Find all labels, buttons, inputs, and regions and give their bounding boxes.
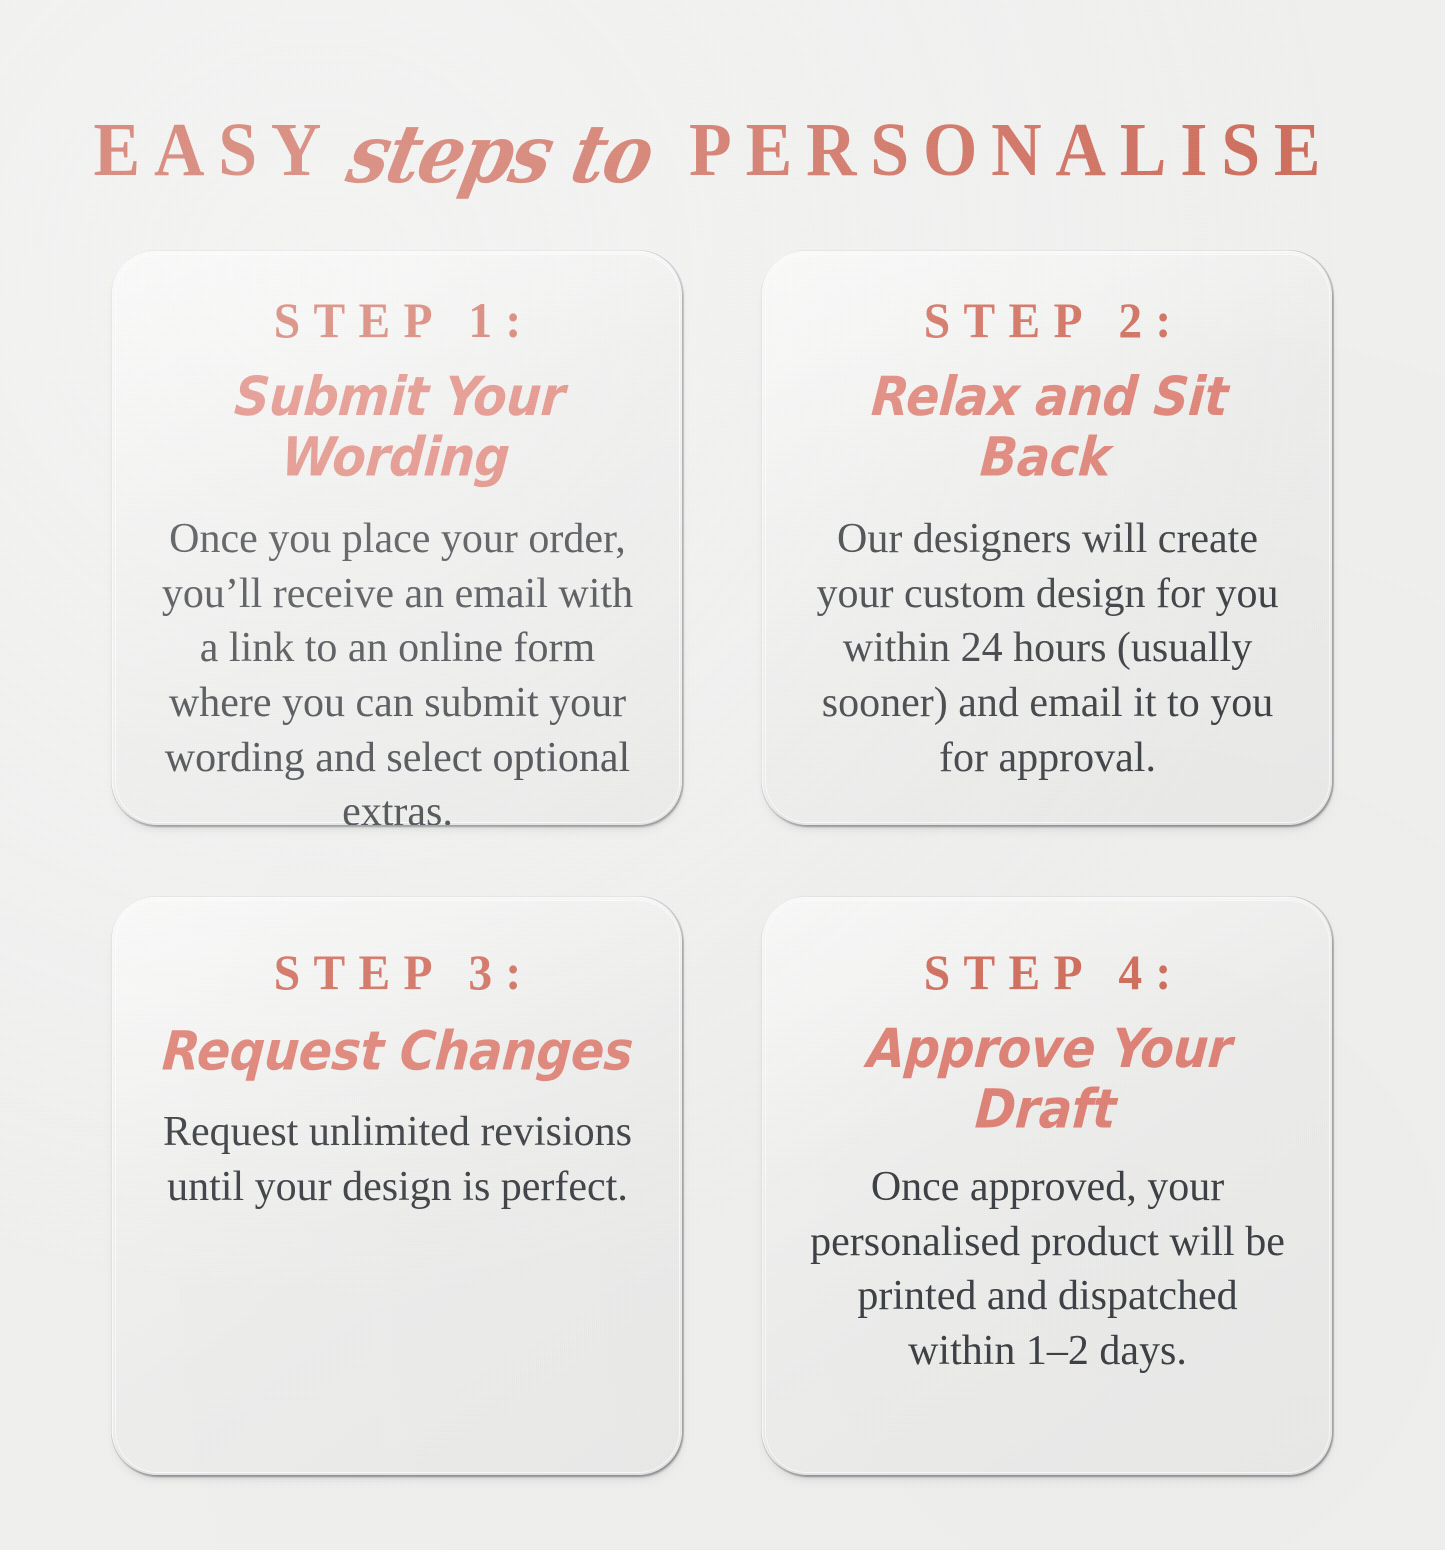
step-4-label: STEP 4:	[810, 946, 1286, 999]
step-3-title: Request Changes	[145, 1022, 650, 1082]
step-2-title: Relax and Sit Back	[793, 367, 1302, 488]
step-1-body: Once you place your order, you’ll receiv…	[147, 512, 648, 825]
step-card-3: STEP 3: Request Changes Request unlimite…	[113, 898, 682, 1475]
page-title: EASYsteps toPERSONALISE	[0, 112, 1445, 188]
step-2-body: Our designers will create your custom de…	[797, 512, 1298, 785]
step-3-body: Request unlimited revisions until your d…	[147, 1105, 648, 1214]
page-title-word-personalise: PERSONALISE	[689, 112, 1334, 188]
step-2-label: STEP 2:	[810, 294, 1286, 347]
page-title-word-easy: EASY	[94, 112, 336, 188]
step-1-label: STEP 1:	[160, 294, 636, 347]
step-card-4: STEP 4: Approve Your Draft Once approved…	[763, 898, 1332, 1475]
page-title-script-steps-to: steps to	[341, 114, 659, 195]
step-1-title: Submit Your Wording	[143, 367, 652, 488]
steps-grid: STEP 1: Submit Your Wording Once you pla…	[113, 252, 1332, 1475]
step-card-1: STEP 1: Submit Your Wording Once you pla…	[113, 252, 682, 825]
step-3-label: STEP 3:	[160, 946, 636, 999]
step-4-body: Once approved, your personalised product…	[797, 1160, 1298, 1378]
step-card-2: STEP 2: Relax and Sit Back Our designers…	[763, 252, 1332, 825]
step-4-title: Approve Your Draft	[793, 1019, 1302, 1140]
